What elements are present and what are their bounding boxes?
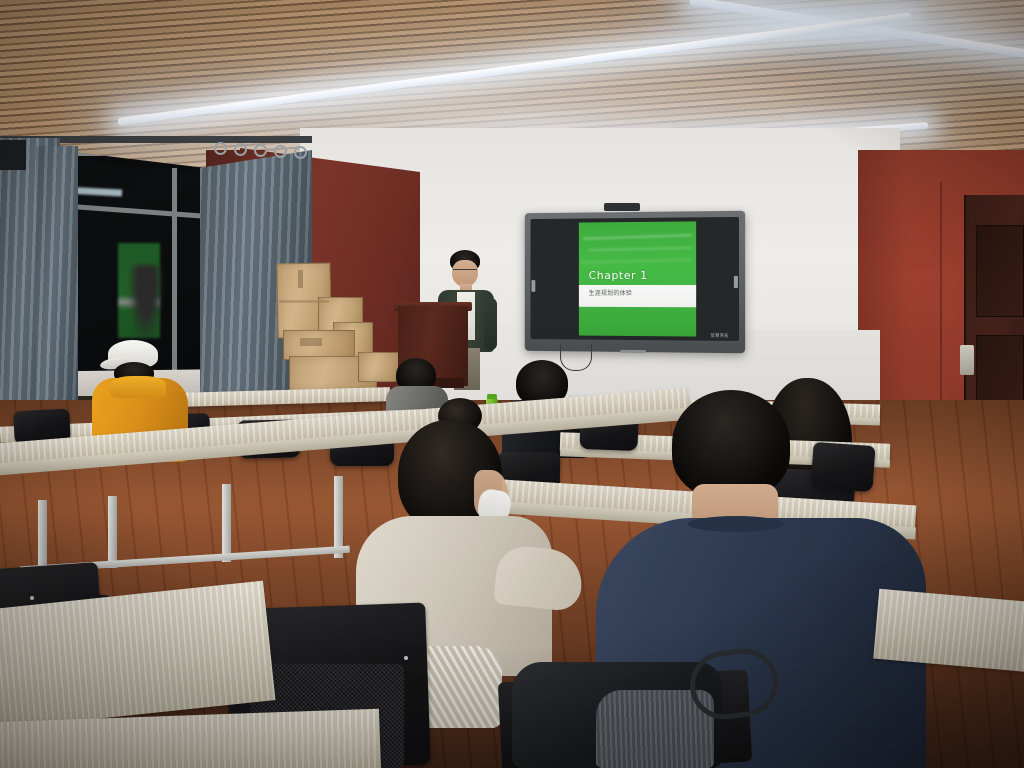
desk-leg: [222, 484, 231, 562]
attendee-navy-collar: [688, 516, 784, 532]
box-marking: [298, 270, 303, 288]
display-model-label: 智慧黑板: [711, 333, 729, 339]
display-camera-bar: [604, 203, 640, 211]
display-screen[interactable]: Chapter 1 生涯规划的体验 智慧黑板: [531, 217, 739, 341]
curtain-ring-icon: [214, 142, 227, 155]
display-side-sensor-left: [531, 280, 535, 292]
slide-subtitle: 生涯规划的体验: [589, 288, 632, 297]
wall-speaker: [0, 140, 26, 170]
slide-title: Chapter 1: [589, 269, 648, 282]
door-handle-icon[interactable]: [960, 345, 974, 375]
window-person-reflection: [128, 265, 164, 345]
curtain-ring-icon: [294, 146, 307, 159]
classroom-photo: Chapter 1 生涯规划的体验 智慧黑板: [0, 0, 1024, 768]
desk-leg: [108, 496, 117, 568]
projected-slide: Chapter 1 生涯规划的体验: [579, 221, 696, 336]
desk-leg: [38, 500, 47, 570]
attendee-beige-arm: [493, 544, 585, 613]
presenter-glasses-icon: [453, 269, 477, 274]
box-label: [300, 338, 322, 346]
curtain-ring-icon: [274, 145, 287, 158]
display-brand-logo: [620, 350, 646, 353]
attendee-cap-hood: [110, 376, 166, 398]
door-panel-top: [976, 225, 1024, 317]
chair-knob: [30, 596, 34, 600]
box-tape-strip: [279, 300, 329, 303]
presenter-arm: [484, 298, 497, 350]
curtain-ring-icon: [254, 144, 267, 157]
display-side-sensor-right: [734, 276, 738, 288]
interactive-display[interactable]: Chapter 1 生涯规划的体验 智慧黑板: [525, 211, 745, 354]
chair-knob: [404, 656, 408, 660]
attendee-navy-hair: [672, 390, 790, 498]
curtain-ring-icon: [234, 143, 247, 156]
